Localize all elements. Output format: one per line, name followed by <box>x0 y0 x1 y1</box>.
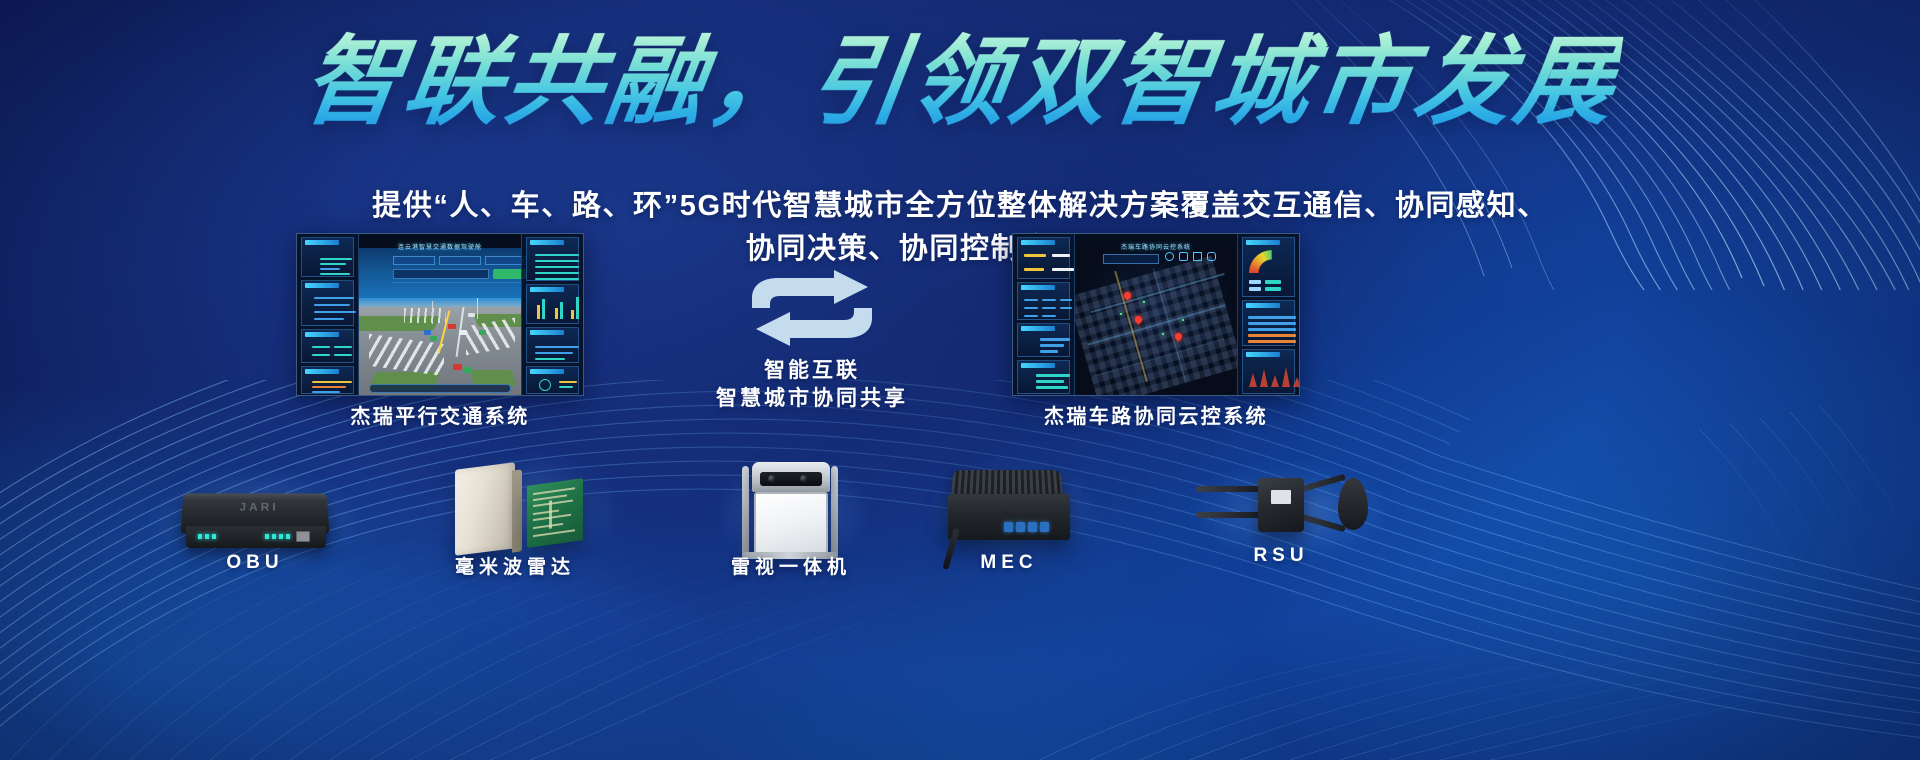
chip-track-replay[interactable] <box>393 256 435 265</box>
card-weather[interactable] <box>1017 282 1070 320</box>
rsu-device-icon <box>1258 478 1304 532</box>
dashboard-left-search[interactable] <box>393 269 489 279</box>
exchange-line-2: 智慧城市协同共享 <box>640 382 984 412</box>
dashboard-left-content: 连云港智慧交通数据驾驶舱 <box>297 234 583 395</box>
dashboard-left-infobar <box>393 282 527 290</box>
page-title: 智联共融，引领双智城市发展 <box>296 28 1624 137</box>
caption-parallel-traffic: 杰瑞平行交通系统 <box>210 400 670 429</box>
dashboard-right-rightbar <box>1237 234 1299 395</box>
card-monitor[interactable] <box>301 329 354 363</box>
radar-pcb-icon <box>527 478 583 548</box>
obu-ethernet-port <box>296 531 310 542</box>
banner-stage: 智联共融，引领双智城市发展 提供“人、车、路、环”5G时代智慧城市全方位整体解决… <box>0 0 1920 760</box>
caption-cloud-control: 杰瑞车路协同云控系统 <box>926 400 1386 429</box>
card-overview[interactable] <box>301 237 354 277</box>
people-icon[interactable] <box>1165 252 1174 261</box>
subtitle-line-1: 提供“人、车、路、环”5G时代智慧城市全方位整体解决方案覆盖交互通信、协同感知、 <box>0 185 1920 228</box>
title-block: 智联共融，引领双智城市发展 <box>0 28 1920 137</box>
dashboard-right-search[interactable] <box>1103 254 1159 264</box>
exchange-arrows-icon <box>744 268 880 348</box>
obu-brand-text: JARI <box>214 501 305 514</box>
product-label-mec: MEC <box>879 552 1139 574</box>
rsu-label-plate <box>1271 490 1291 504</box>
road-icon[interactable] <box>1193 252 1202 261</box>
card-perception[interactable] <box>301 280 354 326</box>
card-device-rank[interactable] <box>1017 323 1070 357</box>
radar-device-icon <box>455 462 515 555</box>
dashboard-right-sidebar <box>1013 234 1075 395</box>
card-gauge[interactable] <box>1242 237 1295 297</box>
card-r-overview[interactable] <box>526 237 579 281</box>
dashboard-left-rightbar <box>521 234 583 395</box>
camera-arm-right <box>831 466 838 558</box>
dashboard-parallel-traffic[interactable]: 连云港智慧交通数据驾驶舱 <box>296 233 584 396</box>
mec-device-icon <box>948 494 1070 540</box>
product-label-obu: OBU <box>125 552 385 574</box>
subtitle-block: 提供“人、车、路、环”5G时代智慧城市全方位整体解决方案覆盖交互通信、协同感知、… <box>0 185 1920 271</box>
exchange-line-1: 智能互联 <box>640 354 984 384</box>
dashboard-right-content: 杰瑞车路协同云控系统 <box>1013 234 1299 395</box>
product-label-radar: 毫米波雷达 <box>385 552 645 579</box>
card-r-radar[interactable] <box>526 366 579 394</box>
dashboard-right-header: 杰瑞车路协同云控系统 <box>1075 236 1237 248</box>
dashboard-cloud-control[interactable]: 杰瑞车路协同云控系统 <box>1012 233 1300 396</box>
card-stats[interactable] <box>1017 237 1070 279</box>
city-3d-map-scene <box>1075 248 1237 395</box>
dashboard-left-header: 连云港智慧交通数据驾驶舱 <box>359 236 521 248</box>
subtitle-line-2: 协同决策、协同控制全系列产品 <box>0 228 1920 271</box>
chip-signal-light[interactable] <box>439 256 481 265</box>
radar-side-edge <box>512 469 522 552</box>
product-label-rsu: RSU <box>1151 545 1411 567</box>
card-r-analysis[interactable] <box>526 327 579 363</box>
dashboard-left-sidebar <box>297 234 359 395</box>
map-marker-3[interactable] <box>1175 333 1182 343</box>
score-gauge <box>1249 250 1295 274</box>
mec-connector-knob <box>1062 504 1080 522</box>
card-trend[interactable] <box>301 366 354 394</box>
card-spike-chart[interactable] <box>1242 349 1295 394</box>
card-event-table[interactable] <box>1242 300 1295 346</box>
card-online-rate[interactable] <box>1017 360 1070 394</box>
camera-arm-left <box>742 466 749 558</box>
map-marker-2[interactable] <box>1135 316 1142 326</box>
vehicle-icon[interactable] <box>1179 252 1188 261</box>
card-r-chart[interactable] <box>526 284 579 324</box>
cloud-icon[interactable] <box>1207 252 1216 261</box>
camera-light-panel <box>754 492 828 554</box>
map-marker-1[interactable] <box>1124 292 1131 302</box>
